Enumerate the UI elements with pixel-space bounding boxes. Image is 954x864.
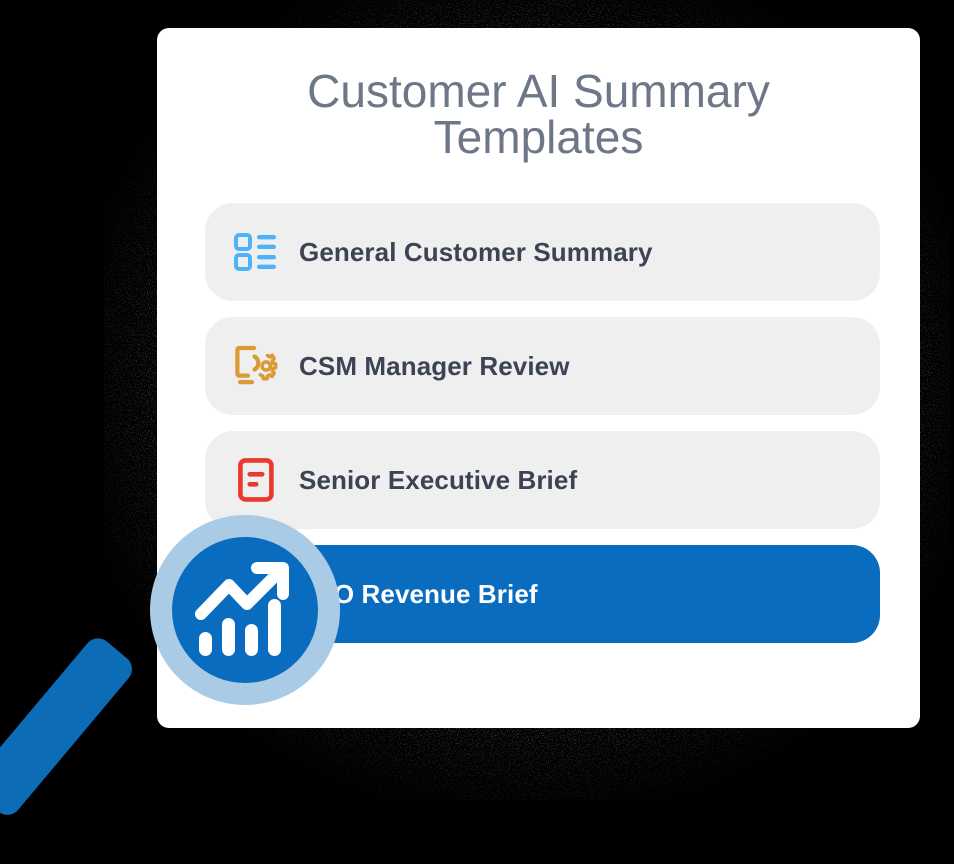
- template-label: General Customer Summary: [299, 237, 653, 268]
- template-list: General Customer Summary CSM Manager Rev…: [205, 203, 880, 659]
- magnifier-handle: [0, 633, 138, 821]
- template-row-senior-executive-brief[interactable]: Senior Executive Brief: [205, 431, 880, 529]
- template-label: Senior Executive Brief: [299, 465, 577, 496]
- template-label: CSM Manager Review: [299, 351, 570, 382]
- templates-card: Customer AI Summary Templates General Cu…: [157, 28, 920, 728]
- template-row-general-customer-summary[interactable]: General Customer Summary: [205, 203, 880, 301]
- template-label: CFO Revenue Brief: [299, 579, 538, 610]
- template-row-cfo-revenue-brief[interactable]: CFO Revenue Brief: [205, 545, 880, 643]
- process-gear-icon: [233, 343, 279, 389]
- template-row-csm-manager-review[interactable]: CSM Manager Review: [205, 317, 880, 415]
- document-lines-icon: [233, 457, 279, 503]
- list-grid-icon: [233, 229, 279, 275]
- screenshot-root: Customer AI Summary Templates General Cu…: [0, 0, 954, 864]
- page-title: Customer AI Summary Templates: [157, 68, 920, 160]
